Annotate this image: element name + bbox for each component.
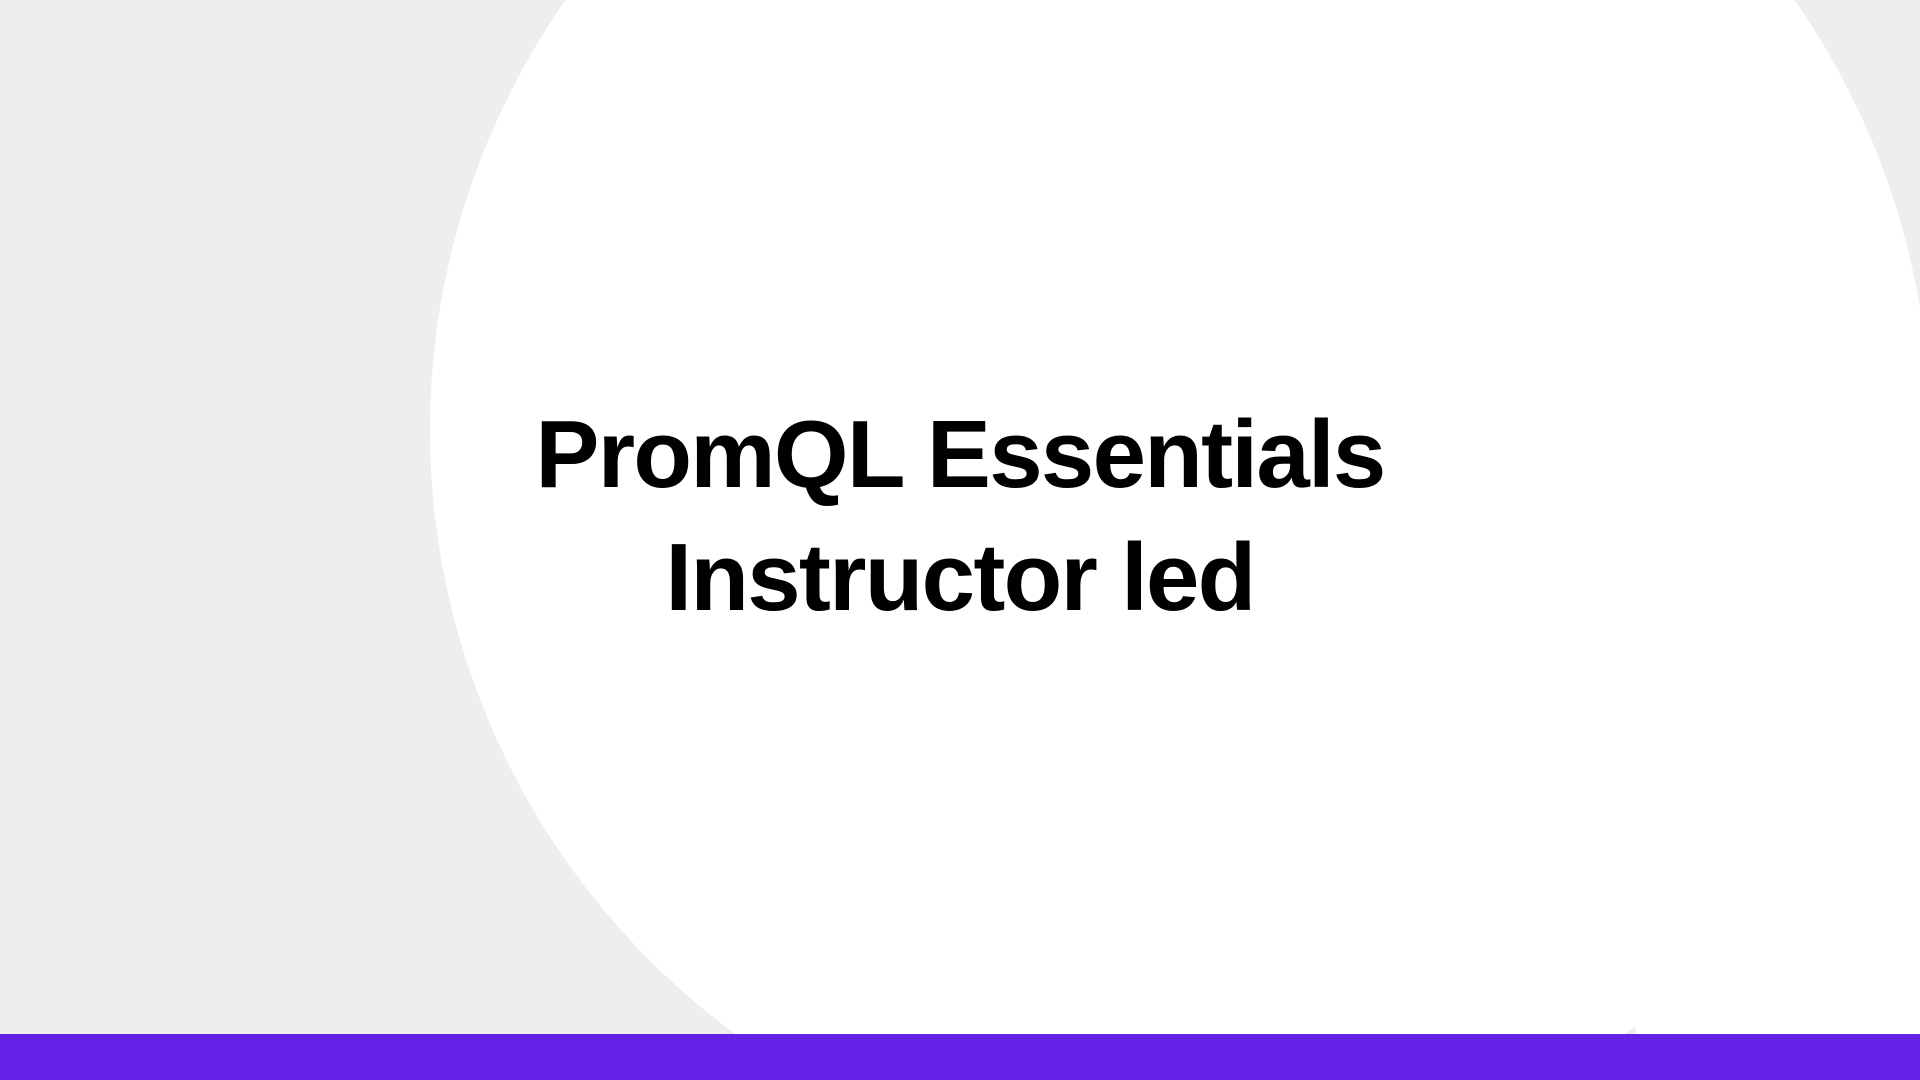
title-slide: PromQL Essentials Instructor led xyxy=(0,0,1920,1080)
bottom-accent-bar xyxy=(0,1034,1920,1080)
decorative-circles-background xyxy=(0,0,1920,1080)
